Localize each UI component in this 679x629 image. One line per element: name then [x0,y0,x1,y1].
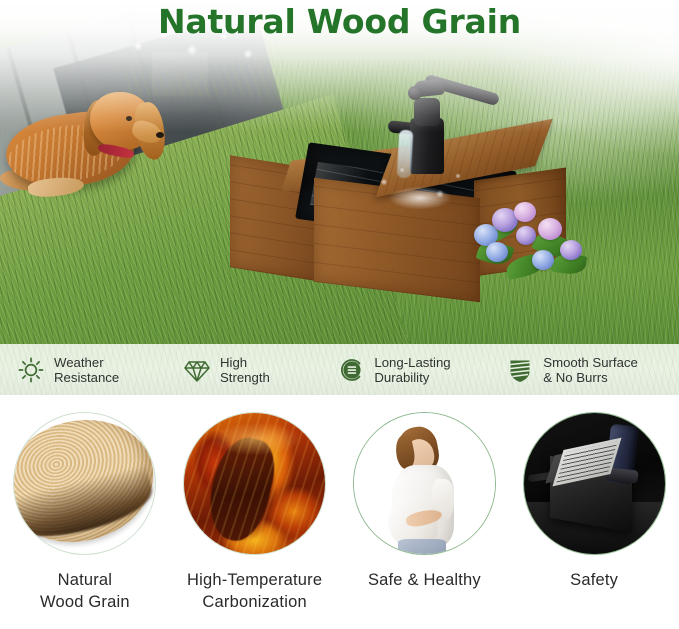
benefit-caption: Natural Wood Grain [40,569,130,613]
benefit-card-high-temperature-carbonization: High-Temperature Carbonization [170,400,340,629]
feature-smooth-surface: Smooth Surface & No Burrs [505,344,679,395]
hero-photo [0,0,679,344]
page-title: Natural Wood Grain [0,2,679,41]
feature-label: Long-Lasting Durability [374,355,450,385]
feature-weather-resistance: Weather Resistance [16,344,182,395]
benefit-card-safety: Safety [509,400,679,629]
flame-glow [196,419,316,459]
feature-label: High Strength [220,355,270,385]
hydrangea-bloom [560,240,582,260]
benefit-caption: Safe & Healthy [368,569,481,591]
burning-wood-image [183,412,326,555]
hydrangea-bloom [538,218,562,240]
shield-icon [505,355,535,385]
benefit-cards: Natural Wood Grain High-Temperature Carb… [0,400,679,629]
feature-high-strength: High Strength [182,344,336,395]
dog-nose [156,132,164,138]
diamond-icon [182,355,212,385]
benefit-caption: High-Temperature Carbonization [187,569,322,613]
pregnant-woman-image [353,412,496,555]
feature-label: Smooth Surface & No Burrs [543,355,638,385]
wood-rings-image [13,412,156,555]
hydrangea-bloom [516,226,536,245]
durability-icon [336,355,366,385]
hydrangea-bloom [532,250,554,270]
benefit-caption: Safety [570,569,618,591]
benefit-card-natural-wood-grain: Natural Wood Grain [0,400,170,629]
hydrangea-bloom [486,242,508,262]
woman-jeans [398,539,446,555]
sun-icon [16,355,46,385]
feature-long-lasting-durability: Long-Lasting Durability [336,344,505,395]
benefit-card-safe-and-healthy: Safe & Healthy [340,400,510,629]
water-pump-image [523,412,666,555]
feature-bar: Weather Resistance High Strength Long-La [0,344,679,395]
feature-label: Weather Resistance [54,355,119,385]
